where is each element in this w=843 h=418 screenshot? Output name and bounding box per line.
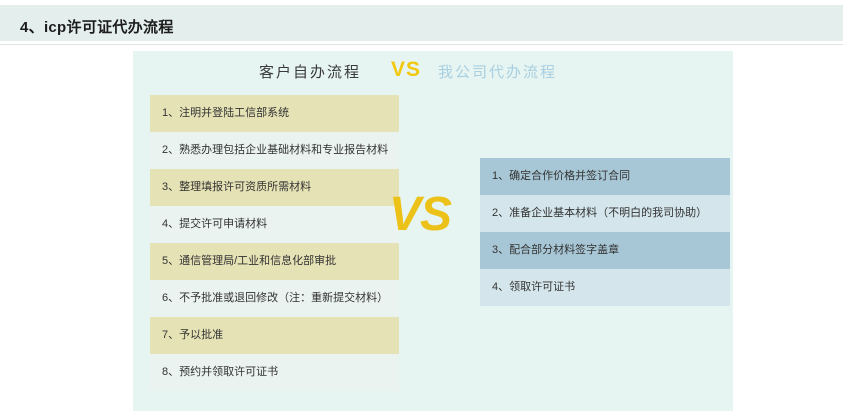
right-step-label: 3、配合部分材料签字盖章 [492, 232, 619, 269]
diagram-titles-row: 客户自办流程 VS 我公司代办流程 [133, 58, 733, 92]
left-step-label: 7、予以批准 [162, 317, 223, 354]
list-item: 1、确定合作价格并签订合同 [480, 158, 730, 195]
list-item: 3、配合部分材料签字盖章 [480, 232, 730, 269]
list-item: 4、领取许可证书 [480, 269, 730, 306]
header-divider [0, 44, 843, 45]
left-process-list: 1、注明并登陆工信部系统 2、熟悉办理包括企业基础材料和专业报告材料 3、整理填… [150, 95, 399, 391]
process-comparison-diagram: 客户自办流程 VS 我公司代办流程 1、注明并登陆工信部系统 2、熟悉办理包括企… [133, 51, 733, 411]
list-item: 4、提交许可申请材料 [150, 206, 399, 243]
list-item: 7、予以批准 [150, 317, 399, 354]
right-column-title: 我公司代办流程 [438, 61, 557, 82]
left-step-label: 3、整理填报许可资质所需材料 [162, 169, 311, 206]
left-step-label: 2、熟悉办理包括企业基础材料和专业报告材料 [162, 132, 388, 169]
list-item: 6、不予批准或退回修改（注：重新提交材料） [150, 280, 399, 317]
list-item: 2、准备企业基本材料（不明白的我司协助） [480, 195, 730, 232]
title-vs-label: VS [391, 58, 421, 82]
right-step-label: 1、确定合作价格并签订合同 [492, 158, 630, 195]
right-process-list: 1、确定合作价格并签订合同 2、准备企业基本材料（不明白的我司协助） 3、配合部… [480, 158, 730, 306]
left-step-label: 5、通信管理局/工业和信息化部审批 [162, 243, 336, 280]
list-item: 2、熟悉办理包括企业基础材料和专业报告材料 [150, 132, 399, 169]
right-step-label: 4、领取许可证书 [492, 269, 575, 306]
left-step-label: 8、预约并领取许可证书 [162, 354, 278, 391]
left-step-label: 6、不予批准或退回修改（注：重新提交材料） [162, 280, 388, 317]
list-item: 8、预约并领取许可证书 [150, 354, 399, 391]
center-vs-label: VS [389, 187, 451, 242]
page-title: 4、icp许可证代办流程 [20, 16, 174, 37]
left-step-label: 4、提交许可申请材料 [162, 206, 267, 243]
right-step-label: 2、准备企业基本材料（不明白的我司协助） [492, 195, 707, 232]
list-item: 3、整理填报许可资质所需材料 [150, 169, 399, 206]
page-header-bar: 4、icp许可证代办流程 [0, 5, 843, 41]
left-step-label: 1、注明并登陆工信部系统 [162, 95, 289, 132]
list-item: 1、注明并登陆工信部系统 [150, 95, 399, 132]
left-column-title: 客户自办流程 [259, 61, 361, 82]
list-item: 5、通信管理局/工业和信息化部审批 [150, 243, 399, 280]
